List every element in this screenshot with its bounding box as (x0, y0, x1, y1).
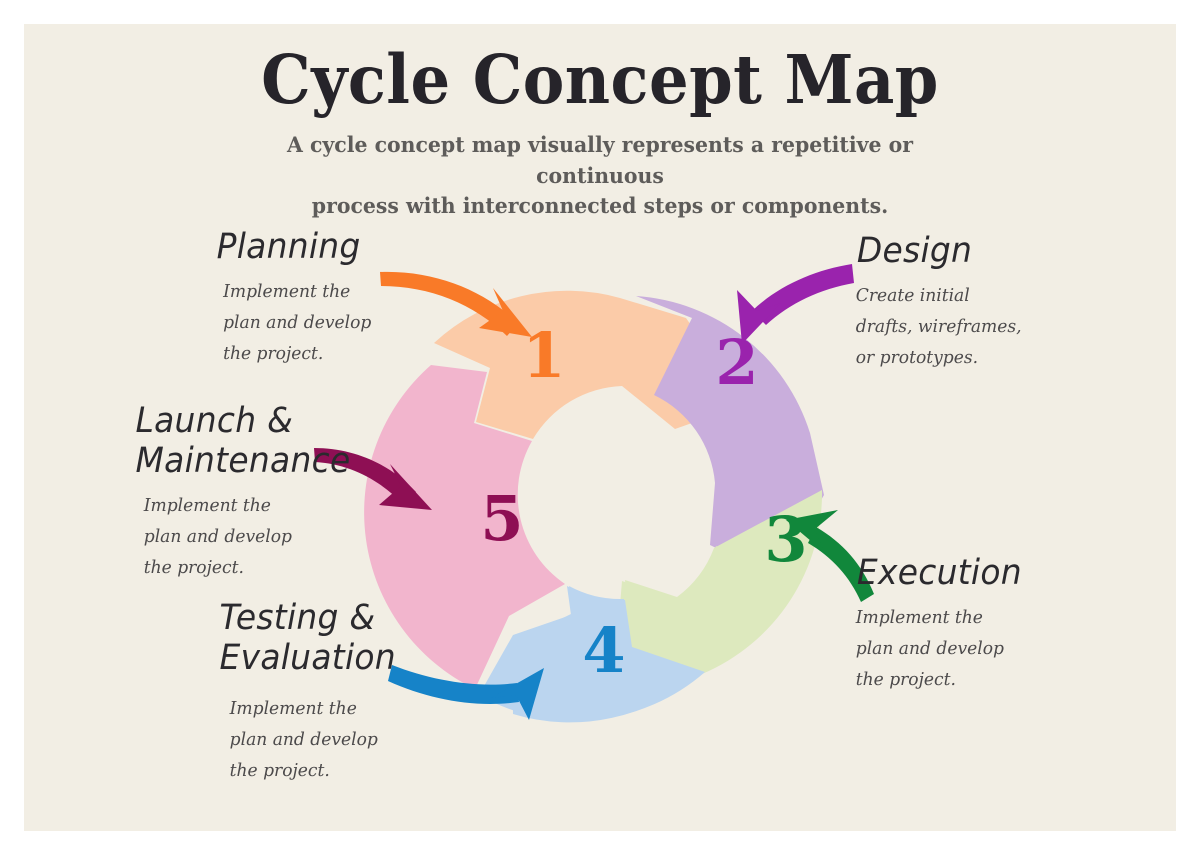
segment-1-number: 1 (522, 319, 565, 392)
step-block-design[interactable]: Design Create initial drafts, wireframes… (850, 232, 1080, 374)
step-title-planning: Planning (217, 228, 424, 268)
step-title-launch-maintenance: Launch & Maintenance (136, 402, 371, 482)
poster-canvas: Cycle Concept Map A cycle concept map vi… (24, 24, 1176, 831)
step-title-design: Design (857, 232, 1073, 272)
title-line: Evaluation (220, 639, 455, 679)
desc-line: the project. (230, 756, 456, 787)
header: Cycle Concept Map A cycle concept map vi… (24, 24, 1176, 223)
desc-line: Create initial (856, 281, 1075, 312)
desc-line: the project. (856, 665, 1075, 696)
page-title: Cycle Concept Map (64, 24, 1135, 117)
desc-line: the project. (144, 553, 372, 584)
step-title-execution: Execution (857, 554, 1073, 594)
desc-line: Implement the (144, 491, 372, 522)
segment-2-number: 2 (715, 326, 758, 399)
desc-line: plan and develop (856, 634, 1075, 665)
page-subtitle: A cycle concept map visually represents … (239, 131, 961, 223)
desc-line: or prototypes. (856, 343, 1075, 374)
title-line: Maintenance (136, 442, 371, 482)
step-desc-execution: Implement the plan and develop the proje… (856, 603, 1075, 696)
segment-5-number: 5 (480, 482, 523, 555)
step-block-planning[interactable]: Planning Implement the plan and develop … (210, 228, 430, 370)
desc-line: Implement the (856, 603, 1075, 634)
step-desc-testing-evaluation: Implement the plan and develop the proje… (218, 688, 456, 787)
subtitle-line-2: process with interconnected steps or com… (239, 192, 961, 223)
step-desc-launch-maintenance: Implement the plan and develop the proje… (134, 491, 372, 584)
segment-3-number: 3 (764, 503, 807, 576)
desc-line: plan and develop (223, 308, 424, 339)
title-line: Launch & (136, 402, 371, 442)
step-desc-planning: Implement the plan and develop the proje… (216, 277, 425, 370)
desc-line: Implement the (230, 694, 456, 725)
desc-line: plan and develop (230, 725, 456, 756)
segment-4-number: 4 (582, 614, 625, 687)
step-block-launch-maintenance[interactable]: Launch & Maintenance Implement the plan … (128, 402, 378, 584)
desc-line: Implement the (223, 277, 424, 308)
desc-line: drafts, wireframes, (856, 312, 1075, 343)
step-block-execution[interactable]: Execution Implement the plan and develop… (850, 554, 1080, 696)
step-desc-design: Create initial drafts, wireframes, or pr… (856, 281, 1075, 374)
desc-line: plan and develop (144, 522, 372, 553)
step-title-testing-evaluation: Testing & Evaluation (220, 599, 455, 679)
subtitle-line-1: A cycle concept map visually represents … (239, 131, 961, 192)
desc-line: the project. (223, 339, 424, 370)
step-block-testing-evaluation[interactable]: Testing & Evaluation Implement the plan … (212, 599, 462, 787)
title-line: Testing & (220, 599, 455, 639)
